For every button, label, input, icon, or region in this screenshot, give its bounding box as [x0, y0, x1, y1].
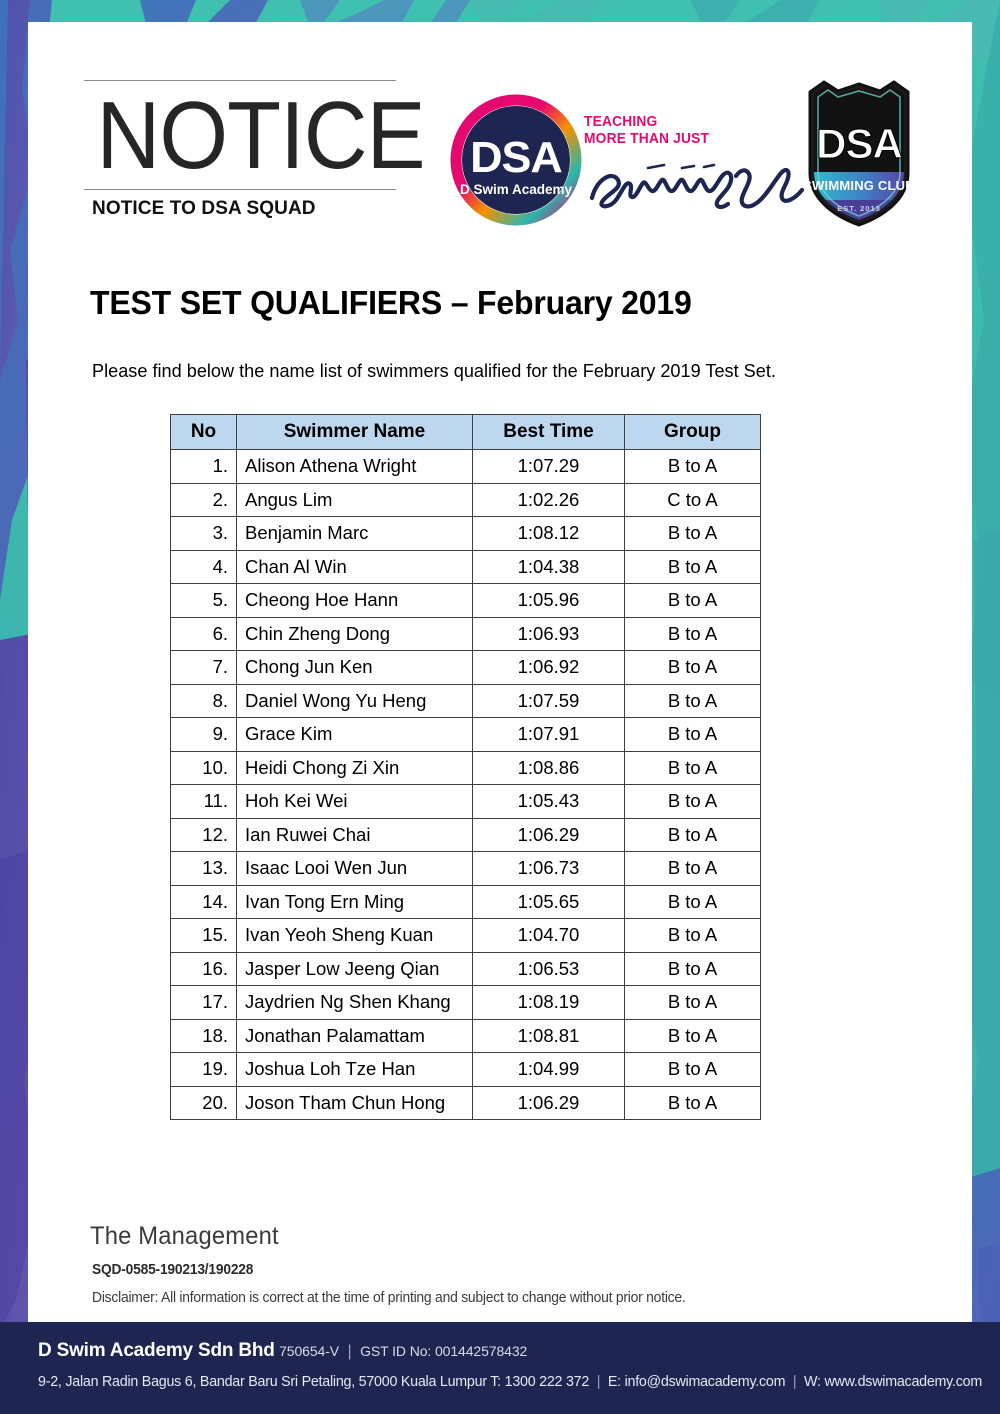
- cell-time: 1:08.86: [473, 751, 625, 785]
- cell-time: 1:04.70: [473, 919, 625, 953]
- cell-no: 14.: [171, 885, 237, 919]
- cell-no: 16.: [171, 952, 237, 986]
- footer-gst-id: GST ID No: 001442578432: [360, 1343, 527, 1359]
- cell-time: 1:05.96: [473, 584, 625, 618]
- cell-group: B to A: [625, 1086, 761, 1120]
- footer-separator-2: |: [593, 1374, 604, 1390]
- footer-separator-3: |: [789, 1374, 800, 1390]
- footer-bar: D Swim Academy Sdn Bhd 750654-V | GST ID…: [0, 1322, 1000, 1414]
- notice-word: NOTICE: [96, 81, 383, 189]
- cell-name: Jonathan Palamattam: [237, 1019, 473, 1053]
- cell-time: 1:06.93: [473, 617, 625, 651]
- cell-time: 1:06.29: [473, 1086, 625, 1120]
- table-row: 4.Chan Al Win1:04.38B to A: [171, 550, 761, 584]
- cell-group: B to A: [625, 785, 761, 819]
- qualifiers-table: No Swimmer Name Best Time Group 1.Alison…: [170, 414, 761, 1120]
- svg-text:DSA: DSA: [470, 133, 562, 182]
- table-row: 8.Daniel Wong Yu Heng1:07.59B to A: [171, 684, 761, 718]
- table-row: 10.Heidi Chong Zi Xin1:08.86B to A: [171, 751, 761, 785]
- dsa-academy-logo-icon: DSA D Swim Academy: [450, 94, 582, 226]
- footer-address: 9-2, Jalan Radin Bagus 6, Bandar Baru Sr…: [38, 1374, 589, 1390]
- cell-name: Joshua Loh Tze Han: [237, 1053, 473, 1087]
- document-header: NOTICE NOTICE TO DSA SQUAD DSA D Swim Ac…: [28, 22, 972, 222]
- cell-no: 2.: [171, 483, 237, 517]
- cell-name: Chin Zheng Dong: [237, 617, 473, 651]
- cell-time: 1:08.19: [473, 986, 625, 1020]
- cell-name: Hoh Kei Wei: [237, 785, 473, 819]
- cell-no: 8.: [171, 684, 237, 718]
- cell-no: 13.: [171, 852, 237, 886]
- cell-group: B to A: [625, 919, 761, 953]
- cell-name: Chong Jun Ken: [237, 651, 473, 685]
- cell-time: 1:06.53: [473, 952, 625, 986]
- cell-group: B to A: [625, 718, 761, 752]
- table-row: 20.Joson Tham Chun Hong1:06.29B to A: [171, 1086, 761, 1120]
- cell-no: 4.: [171, 550, 237, 584]
- cell-no: 3.: [171, 517, 237, 551]
- cell-time: 1:07.29: [473, 450, 625, 484]
- cell-no: 7.: [171, 651, 237, 685]
- cell-group: B to A: [625, 952, 761, 986]
- cell-name: Jaydrien Ng Shen Khang: [237, 986, 473, 1020]
- cell-group: B to A: [625, 818, 761, 852]
- cell-name: Joson Tham Chun Hong: [237, 1086, 473, 1120]
- cell-time: 1:04.99: [473, 1053, 625, 1087]
- cell-no: 1.: [171, 450, 237, 484]
- cell-name: Daniel Wong Yu Heng: [237, 684, 473, 718]
- cell-group: B to A: [625, 1053, 761, 1087]
- cell-name: Benjamin Marc: [237, 517, 473, 551]
- column-header-name: Swimmer Name: [237, 415, 473, 450]
- svg-text:D Swim Academy: D Swim Academy: [460, 182, 573, 197]
- cell-no: 9.: [171, 718, 237, 752]
- cell-group: B to A: [625, 1019, 761, 1053]
- cell-group: B to A: [625, 517, 761, 551]
- cell-no: 11.: [171, 785, 237, 819]
- cell-no: 6.: [171, 617, 237, 651]
- table-row: 7.Chong Jun Ken1:06.92B to A: [171, 651, 761, 685]
- dsa-swimming-club-badge-icon: DSA SWIMMING CLUB EST. 2013: [796, 80, 922, 228]
- table-row: 15.Ivan Yeoh Sheng Kuan1:04.70B to A: [171, 919, 761, 953]
- cell-no: 5.: [171, 584, 237, 618]
- qualifiers-table-body: 1.Alison Athena Wright1:07.29B to A2.Ang…: [171, 450, 761, 1120]
- cell-name: Cheong Hoe Hann: [237, 584, 473, 618]
- cell-time: 1:02.26: [473, 483, 625, 517]
- table-row: 5.Cheong Hoe Hann1:05.96B to A: [171, 584, 761, 618]
- table-row: 19.Joshua Loh Tze Han1:04.99B to A: [171, 1053, 761, 1087]
- cell-name: Heidi Chong Zi Xin: [237, 751, 473, 785]
- cell-name: Angus Lim: [237, 483, 473, 517]
- table-row: 11.Hoh Kei Wei1:05.43B to A: [171, 785, 761, 819]
- cell-time: 1:08.12: [473, 517, 625, 551]
- cell-group: B to A: [625, 751, 761, 785]
- cell-time: 1:06.92: [473, 651, 625, 685]
- table-row: 3.Benjamin Marc1:08.12B to A: [171, 517, 761, 551]
- notice-subtitle: NOTICE TO DSA SQUAD: [92, 198, 316, 220]
- table-row: 2.Angus Lim1:02.26C to A: [171, 483, 761, 517]
- cell-group: B to A: [625, 651, 761, 685]
- intro-paragraph: Please find below the name list of swimm…: [92, 360, 776, 382]
- notice-wordmark: NOTICE: [84, 80, 396, 190]
- cell-name: Ian Ruwei Chai: [237, 818, 473, 852]
- cell-time: 1:08.81: [473, 1019, 625, 1053]
- svg-text:SWIMMING CLUB: SWIMMING CLUB: [803, 178, 915, 193]
- cell-group: B to A: [625, 885, 761, 919]
- footer-website[interactable]: W: www.dswimacademy.com: [804, 1374, 982, 1390]
- cell-group: B to A: [625, 450, 761, 484]
- tagline-line1: TEACHING: [584, 114, 803, 131]
- page-title: TEST SET QUALIFIERS – February 2019: [90, 284, 692, 322]
- cell-name: Ivan Yeoh Sheng Kuan: [237, 919, 473, 953]
- cell-time: 1:04.38: [473, 550, 625, 584]
- table-row: 6.Chin Zheng Dong1:06.93B to A: [171, 617, 761, 651]
- table-header-row: No Swimmer Name Best Time Group: [171, 415, 761, 450]
- table-row: 12.Ian Ruwei Chai1:06.29B to A: [171, 818, 761, 852]
- cell-time: 1:06.73: [473, 852, 625, 886]
- cell-group: B to A: [625, 584, 761, 618]
- table-row: 14.Ivan Tong Ern Ming1:05.65B to A: [171, 885, 761, 919]
- cell-group: B to A: [625, 986, 761, 1020]
- cell-group: B to A: [625, 550, 761, 584]
- table-row: 9.Grace Kim1:07.91B to A: [171, 718, 761, 752]
- disclaimer-text: Disclaimer: All information is correct a…: [92, 1290, 686, 1306]
- column-header-time: Best Time: [473, 415, 625, 450]
- column-header-no: No: [171, 415, 237, 450]
- cell-name: Alison Athena Wright: [237, 450, 473, 484]
- cell-name: Grace Kim: [237, 718, 473, 752]
- table-row: 18.Jonathan Palamattam1:08.81B to A: [171, 1019, 761, 1053]
- svg-text:EST. 2013: EST. 2013: [837, 204, 881, 213]
- table-row: 1.Alison Athena Wright1:07.29B to A: [171, 450, 761, 484]
- cell-no: 10.: [171, 751, 237, 785]
- cell-no: 15.: [171, 919, 237, 953]
- cell-group: C to A: [625, 483, 761, 517]
- brand-tagline: TEACHING MORE THAN JUST: [584, 114, 814, 224]
- document-page: NOTICE NOTICE TO DSA SQUAD DSA D Swim Ac…: [28, 22, 972, 1322]
- cell-name: Jasper Low Jeeng Qian: [237, 952, 473, 986]
- footer-contact-line: 9-2, Jalan Radin Bagus 6, Bandar Baru Sr…: [38, 1374, 982, 1390]
- cell-group: B to A: [625, 617, 761, 651]
- cell-no: 20.: [171, 1086, 237, 1120]
- cell-name: Ivan Tong Ern Ming: [237, 885, 473, 919]
- cell-no: 19.: [171, 1053, 237, 1087]
- tagline-line2: MORE THAN JUST: [584, 131, 803, 148]
- cell-time: 1:05.43: [473, 785, 625, 819]
- reference-code: SQD-0585-190213/190228: [92, 1262, 253, 1278]
- cell-no: 12.: [171, 818, 237, 852]
- cell-group: B to A: [625, 852, 761, 886]
- cell-time: 1:07.59: [473, 684, 625, 718]
- footer-company-line: D Swim Academy Sdn Bhd 750654-V | GST ID…: [38, 1340, 527, 1362]
- footer-separator-1: |: [344, 1343, 356, 1360]
- cell-no: 18.: [171, 1019, 237, 1053]
- cell-time: 1:06.29: [473, 818, 625, 852]
- footer-email[interactable]: E: info@dswimacademy.com: [608, 1374, 785, 1390]
- svg-text:DSA: DSA: [816, 120, 902, 167]
- table-row: 17.Jaydrien Ng Shen Khang1:08.19B to A: [171, 986, 761, 1020]
- footer-company-name: D Swim Academy Sdn Bhd: [38, 1340, 275, 1361]
- table-row: 16.Jasper Low Jeeng Qian1:06.53B to A: [171, 952, 761, 986]
- management-signoff: The Management: [90, 1222, 279, 1251]
- cell-group: B to A: [625, 684, 761, 718]
- column-header-group: Group: [625, 415, 761, 450]
- footer-company-reg: 750654-V: [279, 1343, 339, 1359]
- swimming-script-icon: [586, 150, 812, 214]
- cell-name: Isaac Looi Wen Jun: [237, 852, 473, 886]
- cell-time: 1:07.91: [473, 718, 625, 752]
- cell-time: 1:05.65: [473, 885, 625, 919]
- table-row: 13.Isaac Looi Wen Jun1:06.73B to A: [171, 852, 761, 886]
- notice-rule-bottom: [84, 189, 396, 190]
- cell-no: 17.: [171, 986, 237, 1020]
- cell-name: Chan Al Win: [237, 550, 473, 584]
